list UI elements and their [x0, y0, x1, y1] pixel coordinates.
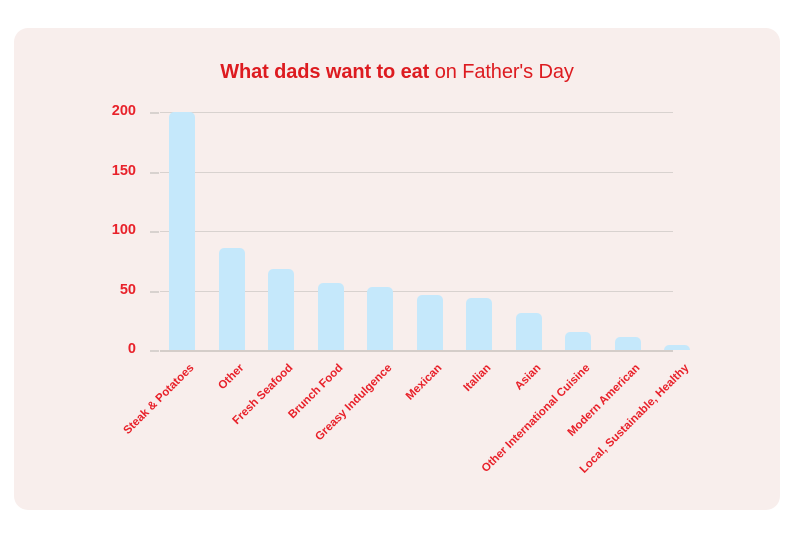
y-axis-tick-150 — [150, 172, 159, 174]
y-axis-label-100: 100 — [14, 222, 148, 238]
gridline-150 — [160, 172, 673, 173]
bar[interactable] — [466, 298, 492, 350]
y-axis-label-50: 50 — [14, 282, 148, 298]
bar[interactable] — [516, 313, 542, 350]
y-axis-label-0: 0 — [14, 341, 148, 357]
gridline-100 — [160, 231, 673, 232]
gridline-200 — [160, 112, 673, 113]
gridline-0 — [160, 350, 673, 352]
bar[interactable] — [169, 112, 195, 350]
plot-area: 050100150200Steak & PotatoesOtherFresh S… — [14, 28, 780, 510]
y-axis-tick-100 — [150, 231, 159, 233]
bar[interactable] — [268, 269, 294, 350]
y-axis-tick-200 — [150, 112, 159, 114]
bar[interactable] — [219, 248, 245, 350]
bar[interactable] — [664, 345, 690, 350]
bar[interactable] — [417, 295, 443, 350]
y-axis-tick-50 — [150, 291, 159, 293]
y-axis-tick-0 — [150, 350, 159, 352]
bar[interactable] — [615, 337, 641, 350]
bar[interactable] — [565, 332, 591, 350]
y-axis-label-150: 150 — [14, 163, 148, 179]
bar[interactable] — [318, 283, 344, 350]
chart-card: What dads want to eat on Father's Day 05… — [14, 28, 780, 510]
bar[interactable] — [367, 287, 393, 350]
y-axis-label-200: 200 — [14, 103, 148, 119]
